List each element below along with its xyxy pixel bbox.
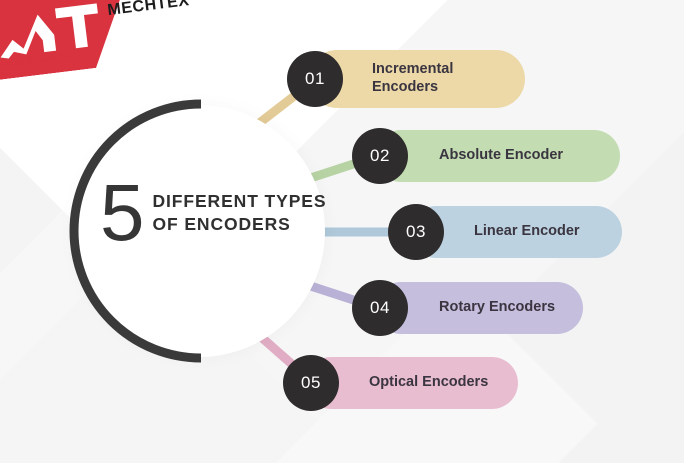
center-number: 5 [100,180,143,246]
item-number-badge[interactable]: 05 [283,355,339,411]
item-label: Linear Encoder [474,223,580,241]
item-number-badge[interactable]: 03 [388,204,444,260]
item-number-badge[interactable]: 02 [352,128,408,184]
center-heading: DIFFERENT TYPES OF ENCODERS [153,190,331,235]
item-number-badge[interactable]: 04 [352,280,408,336]
item-label: Incremental Encoders [372,61,453,96]
item-number-badge[interactable]: 01 [287,51,343,107]
infographic-canvas: 5 DIFFERENT TYPES OF ENCODERS Incrementa… [0,0,684,463]
item-label: Rotary Encoders [439,299,555,317]
item-label: Optical Encoders [369,374,488,392]
item-label: Absolute Encoder [439,147,563,165]
center-headline: 5 DIFFERENT TYPES OF ENCODERS [100,180,330,246]
list-item[interactable]: Absolute Encoder [375,130,620,182]
